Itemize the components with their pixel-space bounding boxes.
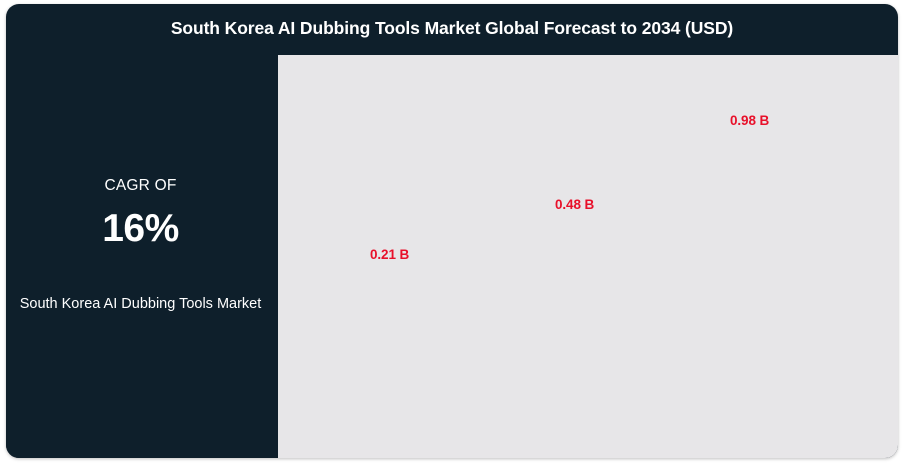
market-name-label: South Korea AI Dubbing Tools Market	[20, 292, 262, 318]
data-label: 0.21 B	[370, 247, 409, 262]
data-label: 0.48 B	[555, 197, 594, 212]
infographic-card: South Korea AI Dubbing Tools Market Glob…	[6, 4, 898, 458]
cagr-label: CAGR OF	[104, 177, 176, 195]
data-label: 0.98 B	[730, 113, 769, 128]
page-title: South Korea AI Dubbing Tools Market Glob…	[6, 18, 898, 39]
cagr-value: 16%	[102, 209, 179, 248]
cagr-stats-panel: CAGR OF 16% South Korea AI Dubbing Tools…	[6, 55, 275, 458]
chart-plot-area: 0.21 B 0.48 B 0.98 B	[275, 55, 898, 458]
